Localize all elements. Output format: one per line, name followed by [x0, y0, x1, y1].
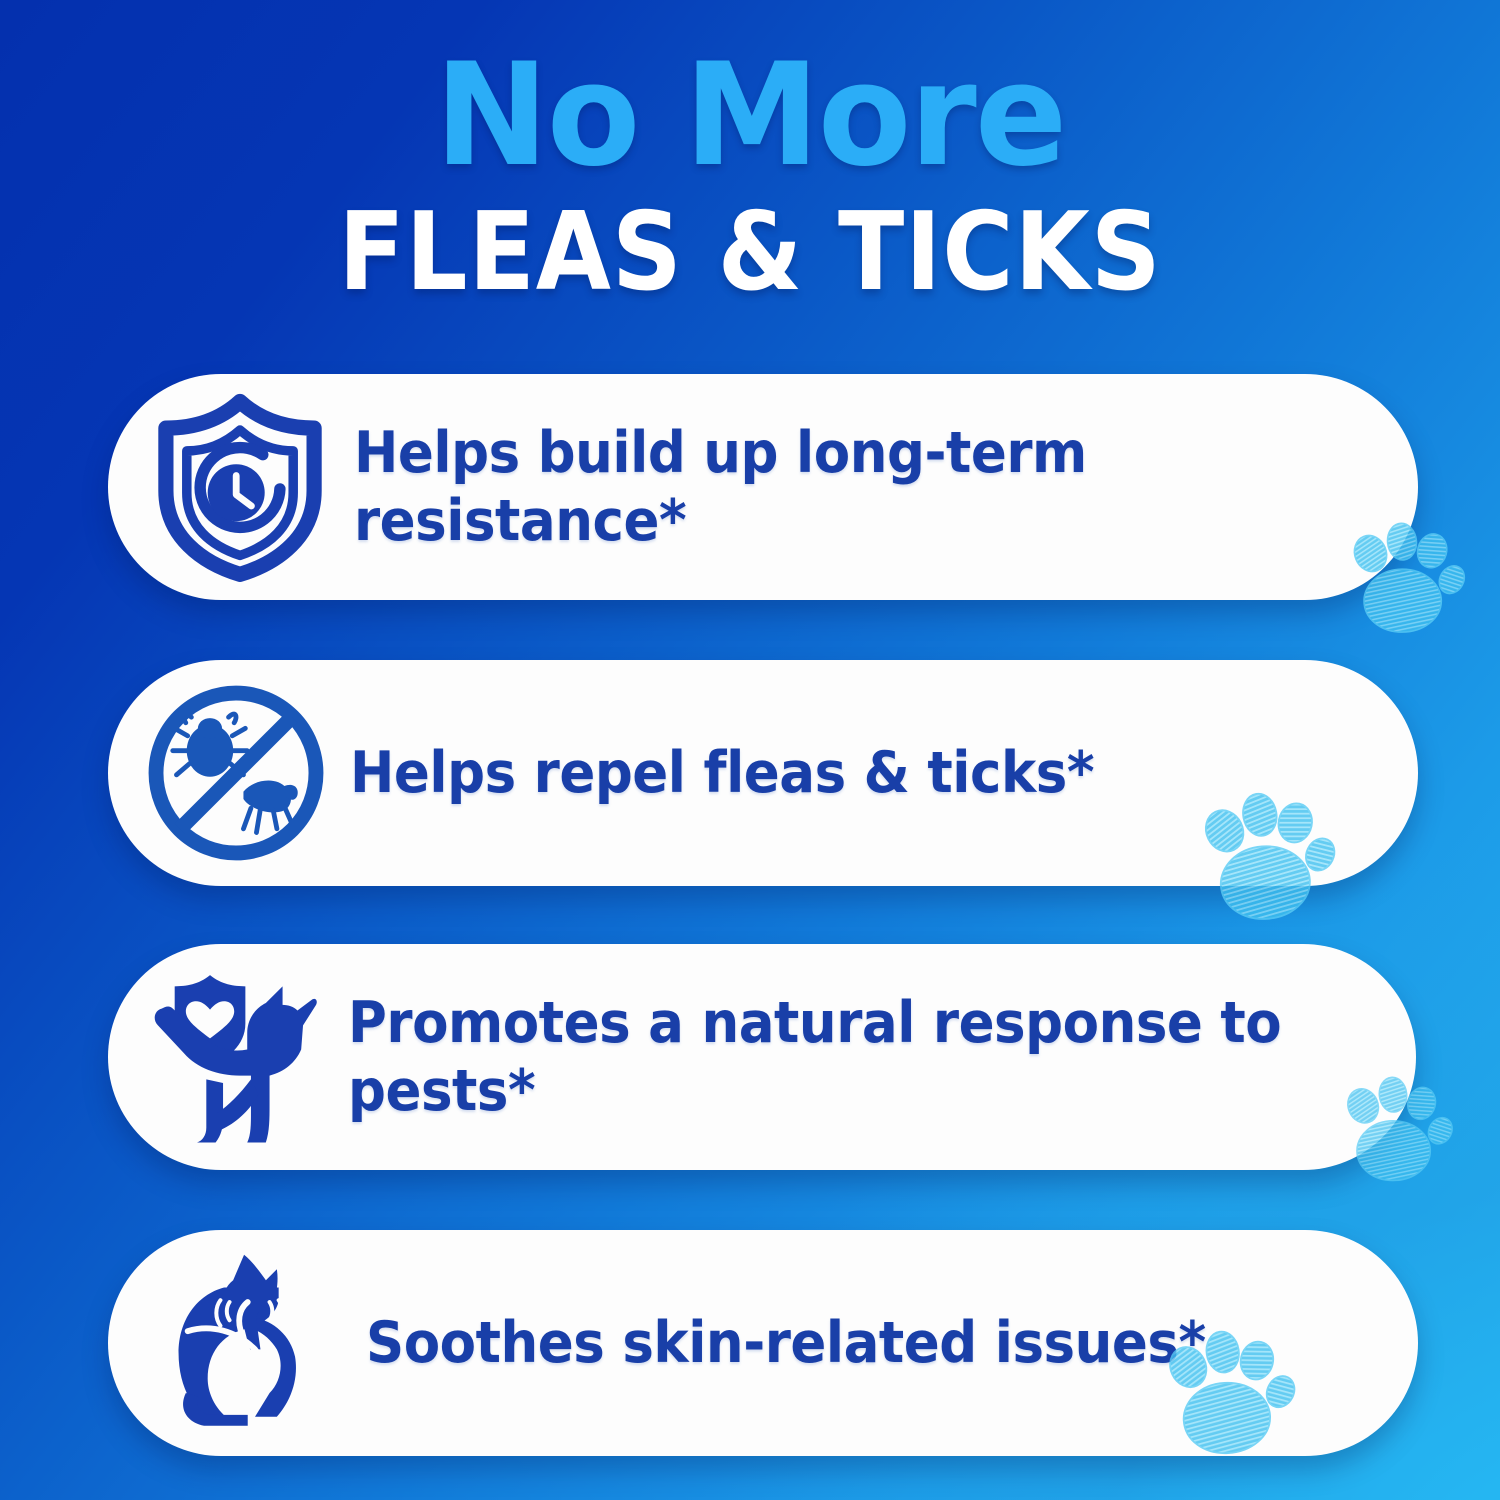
no-fleas-ticks-icon — [122, 680, 350, 866]
benefit-card-label: Soothes skin-related issues* — [366, 1309, 1206, 1377]
headline-primary: No More — [30, 46, 1470, 185]
shield-clock-icon — [126, 392, 354, 582]
benefit-card-label: Promotes a natural response to pests* — [348, 989, 1341, 1126]
header: No More FLEAS & TICKS — [0, 0, 1500, 307]
benefit-card-long-term-resistance[interactable]: Helps build up long-term resistance* — [108, 374, 1418, 600]
cat-shield-heart-icon — [126, 964, 348, 1150]
benefit-card-repel-fleas-ticks[interactable]: Helps repel fleas & ticks* — [108, 660, 1418, 886]
promo-graphic: No More FLEAS & TICKS Helps build up lon… — [0, 0, 1500, 1500]
cat-scratching-icon — [144, 1247, 366, 1439]
benefit-card-natural-response[interactable]: Promotes a natural response to pests* — [108, 944, 1416, 1170]
headline-secondary: FLEAS & TICKS — [75, 199, 1425, 307]
benefit-card-label: Helps repel fleas & ticks* — [350, 739, 1094, 807]
benefit-card-label: Helps build up long-term resistance* — [354, 419, 1344, 556]
benefit-card-soothes-skin[interactable]: Soothes skin-related issues* — [108, 1230, 1418, 1456]
